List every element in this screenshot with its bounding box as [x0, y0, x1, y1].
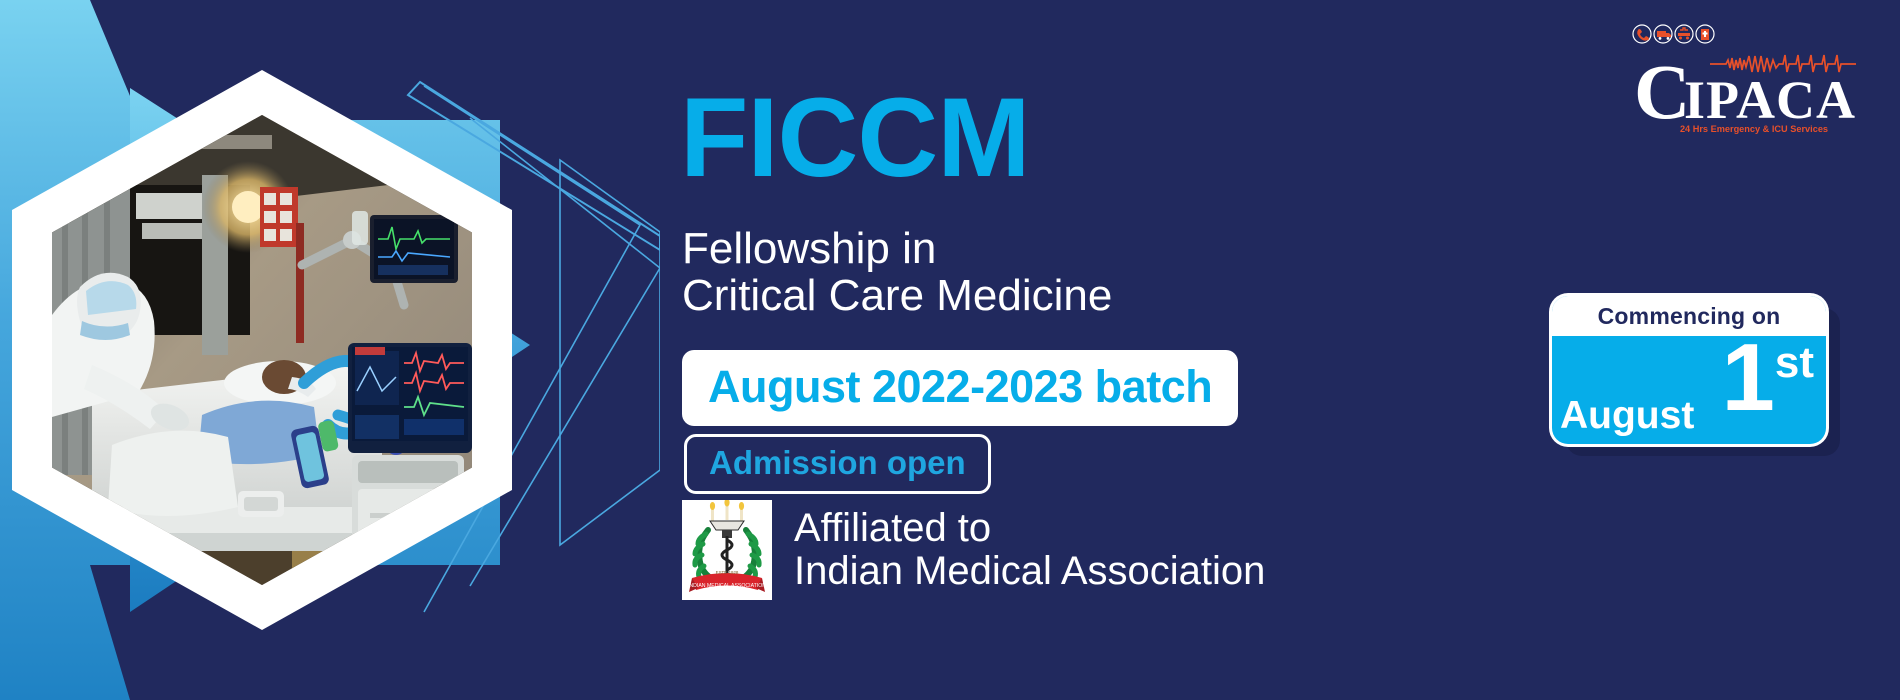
badge-body: Commencing on August 1st [1552, 296, 1826, 444]
cipaca-wordmark: IPACA [1684, 70, 1856, 130]
phone-icon [1633, 25, 1651, 43]
hexagon-photo-frame [12, 70, 512, 630]
page-title: FICCM [680, 86, 1030, 189]
admission-status-badge: Admission open [684, 434, 991, 494]
service-icons-row [1633, 25, 1714, 43]
badge-day: 1st [1721, 330, 1814, 426]
ima-estd-text: ESTD 1928 [716, 570, 739, 575]
cipaca-logo[interactable]: C IPACA 24 Hrs Emergency & ICU Services [1628, 22, 1878, 137]
admission-label: Admission open [709, 444, 966, 481]
cipaca-initial: C [1634, 48, 1690, 135]
subtitle-line-1: Fellowship in [682, 225, 1112, 272]
badge-day-suffix: st [1775, 338, 1814, 387]
badge-date-area: August 1st [1552, 336, 1826, 444]
affiliation-line-2: Indian Medical Association [794, 550, 1265, 593]
cipaca-tagline: 24 Hrs Emergency & ICU Services [1680, 124, 1828, 134]
batch-label: August 2022-2023 batch [708, 361, 1212, 412]
course-subtitle: Fellowship in Critical Care Medicine [682, 225, 1112, 319]
badge-month: August [1560, 394, 1694, 438]
affiliation-block: INDIAN MEDICAL ASSOCIATION ESTD 1928 Aff… [682, 500, 1265, 600]
ima-ribbon-text: INDIAN MEDICAL ASSOCIATION [688, 583, 766, 589]
badge-day-number: 1 [1721, 324, 1774, 431]
course-content: FICCM Fellowship in Critical Care Medici… [660, 0, 1460, 700]
ima-emblem-icon: INDIAN MEDICAL ASSOCIATION ESTD 1928 [682, 500, 772, 600]
subtitle-line-2: Critical Care Medicine [682, 272, 1112, 319]
affiliation-line-1: Affiliated to [794, 507, 1265, 550]
affiliation-text: Affiliated to Indian Medical Association [794, 507, 1265, 593]
ficcm-promo-banner: FICCM Fellowship in Critical Care Medici… [0, 0, 1900, 700]
batch-banner: August 2022-2023 batch [682, 350, 1238, 426]
commencing-badge: Commencing on August 1st [1552, 296, 1840, 456]
